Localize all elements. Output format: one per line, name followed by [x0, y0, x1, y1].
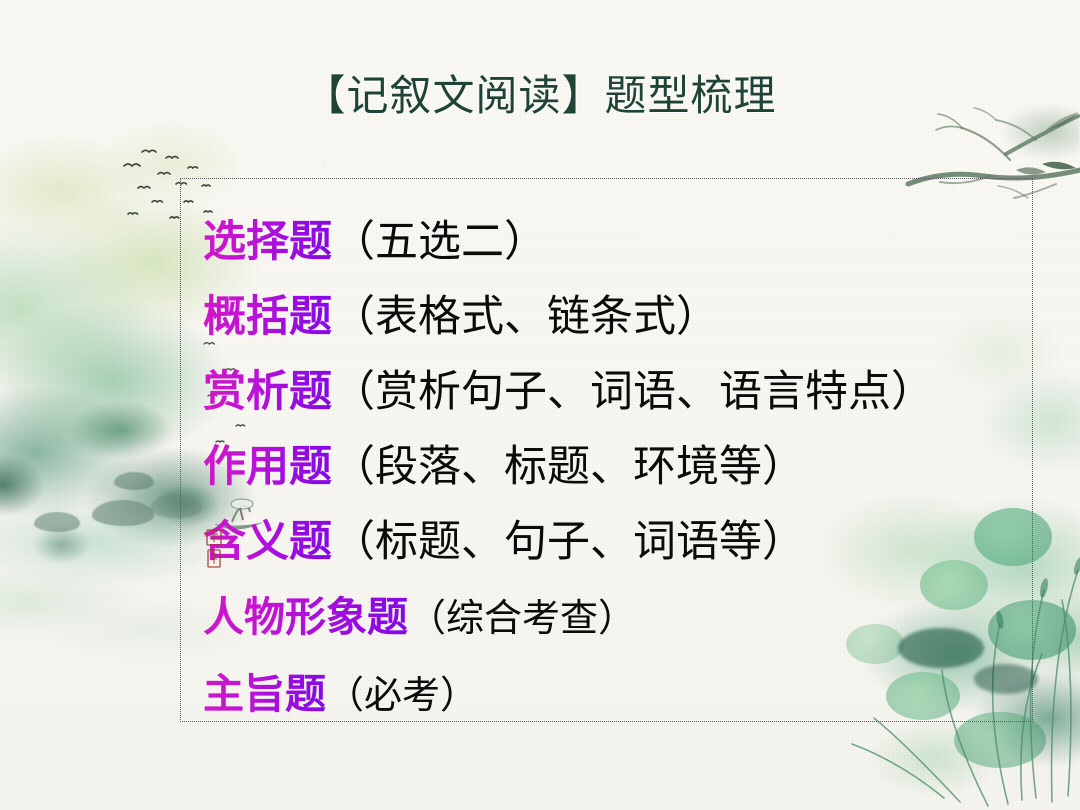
question-type-detail: （表格式、链条式）	[332, 293, 719, 341]
question-type-key: 选择题	[203, 218, 332, 266]
question-type-key: 作用题	[203, 443, 332, 491]
list-item: 主旨题（必考）	[203, 657, 1022, 734]
list-item: 赏析题（赏析句子、词语、语言特点）	[203, 355, 1022, 430]
list-item: 选择题（五选二）	[203, 205, 1022, 280]
slide-canvas: 【记叙文阅读】题型梳理 选择题（五选二） 概括题（表格式、链条式） 赏析题（赏析…	[0, 0, 1080, 810]
list-item: 含义题（标题、句子、词语等）	[203, 505, 1022, 580]
question-type-list: 选择题（五选二） 概括题（表格式、链条式） 赏析题（赏析句子、词语、语言特点） …	[203, 205, 1022, 734]
question-type-detail: （标题、句子、词语等）	[332, 518, 805, 566]
question-type-detail: （必考）	[326, 675, 478, 717]
question-type-detail: （五选二）	[332, 218, 547, 266]
page-title: 【记叙文阅读】题型梳理	[0, 62, 1080, 123]
question-type-detail: （段落、标题、环境等）	[332, 443, 805, 491]
question-type-key: 人物形象题	[203, 594, 408, 640]
seal-stamp-icon	[204, 528, 224, 570]
list-item: 概括题（表格式、链条式）	[203, 280, 1022, 355]
list-item: 作用题（段落、标题、环境等）	[203, 430, 1022, 505]
watercolor-stone	[114, 472, 154, 490]
question-type-detail: （综合考查）	[408, 598, 636, 640]
watercolor-stone	[92, 500, 154, 526]
question-type-key: 赏析题	[203, 368, 332, 416]
question-type-key: 主旨题	[203, 671, 326, 717]
question-type-detail: （赏析句子、词语、语言特点）	[332, 368, 934, 416]
content-outline-box: 选择题（五选二） 概括题（表格式、链条式） 赏析题（赏析句子、词语、语言特点） …	[180, 178, 1033, 722]
question-type-key: 概括题	[203, 293, 332, 341]
list-item: 人物形象题（综合考查）	[203, 580, 1022, 657]
watercolor-stone	[34, 512, 80, 532]
